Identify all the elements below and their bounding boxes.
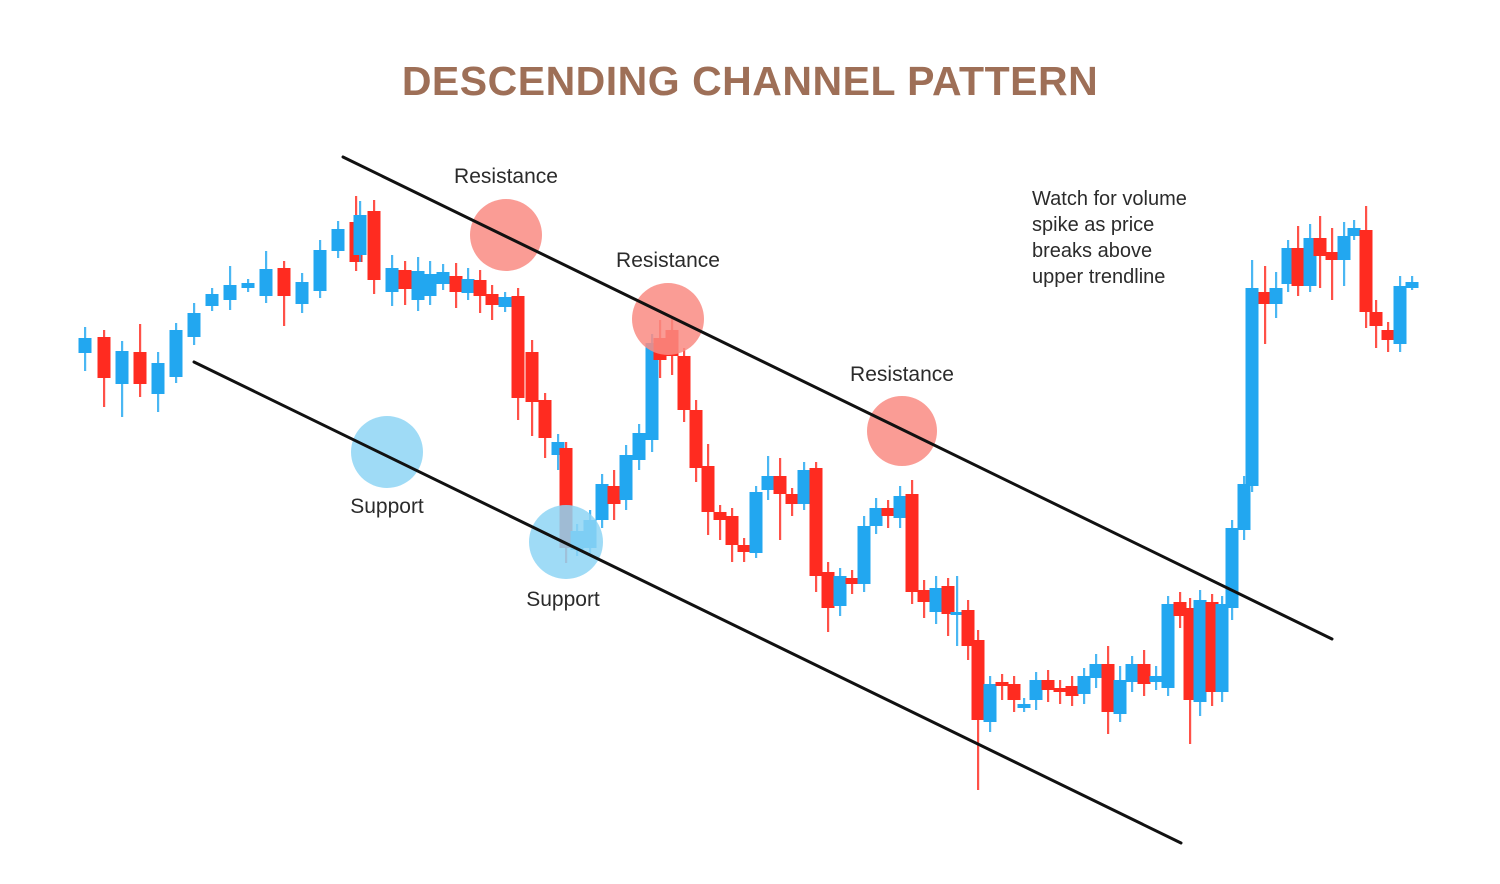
candle-69: [996, 674, 1009, 700]
candle-54: [822, 562, 835, 632]
candle-body: [424, 274, 437, 296]
candle-52: [798, 462, 811, 510]
candle-20: [412, 257, 425, 311]
candle-101: [1360, 206, 1373, 328]
candle-body: [798, 470, 811, 504]
candle-body: [539, 400, 552, 438]
candle-92: [1259, 266, 1272, 344]
candle-body: [894, 496, 907, 518]
candle-23: [450, 263, 463, 308]
candle-55: [834, 568, 847, 616]
candle-body: [750, 492, 763, 553]
candle-body: [918, 590, 931, 602]
candle-98: [1326, 228, 1339, 300]
candle-8: [224, 266, 237, 310]
candle-28: [512, 288, 525, 420]
candle-body: [98, 337, 111, 378]
candle-body: [526, 352, 539, 402]
candle-body: [116, 351, 129, 384]
candle-body: [1216, 604, 1229, 692]
candle-body: [170, 330, 183, 377]
candle-body: [450, 276, 463, 292]
candle-body: [810, 468, 823, 576]
candle-body: [1246, 288, 1259, 486]
candle-77: [1090, 654, 1103, 688]
candle-body: [786, 494, 799, 504]
candle-body: [714, 512, 727, 520]
candle-29: [526, 340, 539, 436]
candle-95: [1292, 226, 1305, 296]
candle-83: [1162, 596, 1175, 696]
candles-layer: [79, 196, 1419, 790]
candle-3: [134, 324, 147, 397]
candle-46: [726, 508, 739, 562]
candle-17: [368, 200, 381, 294]
candle-51: [786, 488, 799, 516]
candle-body: [774, 476, 787, 494]
candle-body: [1138, 664, 1151, 684]
chart-canvas: DESCENDING CHANNEL PATTERN ResistanceRes…: [0, 0, 1500, 884]
candle-89: [1226, 520, 1239, 620]
candle-86: [1194, 590, 1207, 716]
candle-body: [1226, 528, 1239, 608]
candle-body: [314, 250, 327, 291]
candle-7: [206, 288, 219, 311]
candle-43: [690, 400, 703, 482]
candle-wick: [956, 576, 958, 646]
candle-38: [633, 424, 646, 470]
candle-74: [1054, 680, 1067, 704]
candle-body: [1054, 688, 1067, 692]
candle-body: [678, 356, 691, 410]
candle-104: [1394, 276, 1407, 352]
candle-18: [386, 255, 399, 306]
candle-body: [354, 215, 367, 255]
candle-body: [596, 484, 609, 520]
candle-body: [858, 526, 871, 584]
candle-body: [834, 576, 847, 606]
candle-6: [188, 303, 201, 345]
candle-14: [332, 221, 345, 258]
candle-body: [1338, 236, 1351, 260]
candle-44: [702, 444, 715, 535]
candle-21: [424, 261, 437, 305]
candle-body: [942, 586, 955, 614]
candle-49: [762, 456, 775, 500]
candle-wick: [1001, 674, 1003, 700]
candle-body: [152, 363, 165, 394]
candle-body: [972, 640, 985, 720]
resistance-label-1: Resistance: [616, 249, 720, 273]
candle-1: [98, 330, 111, 407]
candle-wick: [1331, 228, 1333, 300]
candle-67: [972, 630, 985, 790]
candle-5: [170, 323, 183, 383]
resistance-label-2: Resistance: [850, 363, 954, 387]
volume-spike-note: Watch for volume spike as price breaks a…: [1032, 186, 1187, 290]
candle-50: [774, 458, 787, 540]
candle-body: [1348, 228, 1361, 236]
candle-body: [620, 455, 633, 500]
candle-body: [1030, 680, 1043, 700]
candle-body: [1314, 238, 1327, 256]
candle-36: [608, 470, 621, 520]
candle-body: [412, 271, 425, 300]
candle-body: [738, 545, 751, 552]
resistance-marker-1: [632, 283, 704, 355]
candle-body: [134, 352, 147, 384]
candle-37: [620, 445, 633, 510]
candle-body: [1270, 288, 1283, 304]
candle-body: [822, 572, 835, 608]
candle-25: [474, 270, 487, 313]
candle-body: [1360, 230, 1373, 312]
candle-80: [1126, 656, 1139, 692]
candle-26: [486, 285, 499, 320]
candle-76: [1078, 668, 1091, 704]
candle-body: [1078, 676, 1091, 694]
candle-82: [1150, 666, 1163, 690]
candle-body: [1008, 684, 1021, 700]
candle-48: [750, 486, 763, 558]
candle-13: [314, 240, 327, 298]
candle-body: [499, 297, 512, 307]
candle-2: [116, 341, 129, 417]
candle-10: [260, 251, 273, 303]
candle-body: [1292, 248, 1305, 286]
candle-body: [1126, 664, 1139, 682]
candle-11: [278, 261, 291, 326]
candle-body: [474, 280, 487, 296]
candle-27: [499, 292, 512, 312]
candle-body: [762, 476, 775, 490]
candle-body: [1194, 600, 1207, 702]
candle-53: [810, 462, 823, 592]
candle-body: [1150, 676, 1163, 682]
candle-body: [726, 516, 739, 545]
candle-body: [462, 279, 475, 293]
support-marker-3: [351, 416, 423, 488]
candle-79: [1114, 666, 1127, 722]
candle-35: [596, 474, 609, 528]
candle-body: [386, 268, 399, 292]
candle-91: [1246, 260, 1259, 492]
candle-68: [984, 676, 997, 732]
candle-body: [1090, 664, 1103, 678]
candle-body: [296, 282, 309, 304]
candle-body: [996, 682, 1009, 686]
candle-59: [882, 500, 895, 528]
candle-60: [894, 486, 907, 528]
candle-body: [1382, 330, 1395, 340]
candle-body: [690, 410, 703, 468]
candle-body: [278, 268, 291, 296]
candle-wick: [1264, 266, 1266, 344]
candle-body: [882, 508, 895, 516]
candle-body: [1406, 282, 1419, 288]
candlestick-chart: [0, 0, 1500, 884]
candle-88: [1216, 596, 1229, 702]
candle-body: [608, 486, 621, 504]
candle-body: [399, 270, 412, 289]
candle-body: [846, 578, 859, 584]
candle-body: [1114, 680, 1127, 714]
candle-wick: [779, 458, 781, 540]
candle-body: [1066, 686, 1079, 696]
candle-body: [930, 588, 943, 612]
support-label-4: Support: [526, 588, 600, 612]
candle-4: [152, 352, 165, 412]
candle-61: [906, 480, 919, 604]
candle-body: [633, 433, 646, 460]
candle-body: [1394, 286, 1407, 344]
candle-body: [368, 211, 381, 280]
candle-45: [714, 505, 727, 540]
candle-body: [79, 338, 92, 353]
candle-body: [906, 494, 919, 592]
candle-71: [1018, 698, 1031, 712]
candle-93: [1270, 272, 1283, 318]
candle-56: [846, 570, 859, 594]
candle-0: [79, 327, 92, 371]
candle-58: [870, 498, 883, 534]
candle-73: [1042, 670, 1055, 702]
candle-30: [539, 393, 552, 458]
candle-body: [1042, 680, 1055, 690]
candle-body: [702, 466, 715, 512]
candle-body: [1326, 252, 1339, 260]
candle-body: [332, 229, 345, 251]
candle-wick: [719, 505, 721, 540]
candle-78: [1102, 646, 1115, 734]
support-label-3: Support: [350, 495, 424, 519]
candle-body: [1018, 704, 1031, 708]
candle-body: [188, 313, 201, 337]
candle-19: [399, 261, 412, 305]
candle-96: [1304, 224, 1317, 292]
candle-body: [206, 294, 219, 306]
candle-body: [1102, 664, 1115, 712]
candle-body: [1238, 484, 1251, 530]
candle-body: [1370, 312, 1383, 326]
candle-42: [678, 348, 691, 422]
candle-9: [242, 279, 255, 292]
candle-body: [486, 294, 499, 305]
candle-body: [512, 296, 525, 398]
candle-47: [738, 538, 751, 562]
candle-body: [870, 508, 883, 526]
candle-63: [930, 576, 943, 624]
candle-64: [942, 578, 955, 636]
candle-12: [296, 273, 309, 313]
candle-75: [1066, 676, 1079, 706]
resistance-label-0: Resistance: [454, 165, 558, 189]
candle-105: [1406, 276, 1419, 290]
candle-body: [260, 269, 273, 296]
candle-body: [437, 272, 450, 284]
candle-body: [1162, 604, 1175, 688]
candle-body: [242, 283, 255, 288]
candle-72: [1030, 672, 1043, 710]
candle-81: [1138, 650, 1151, 696]
candle-24: [462, 268, 475, 300]
candle-62: [918, 580, 931, 618]
candle-body: [984, 684, 997, 722]
candle-57: [858, 516, 871, 592]
candle-103: [1382, 322, 1395, 352]
lower-trendline: [194, 362, 1181, 843]
candle-body: [224, 285, 237, 300]
candle-22: [437, 264, 450, 290]
